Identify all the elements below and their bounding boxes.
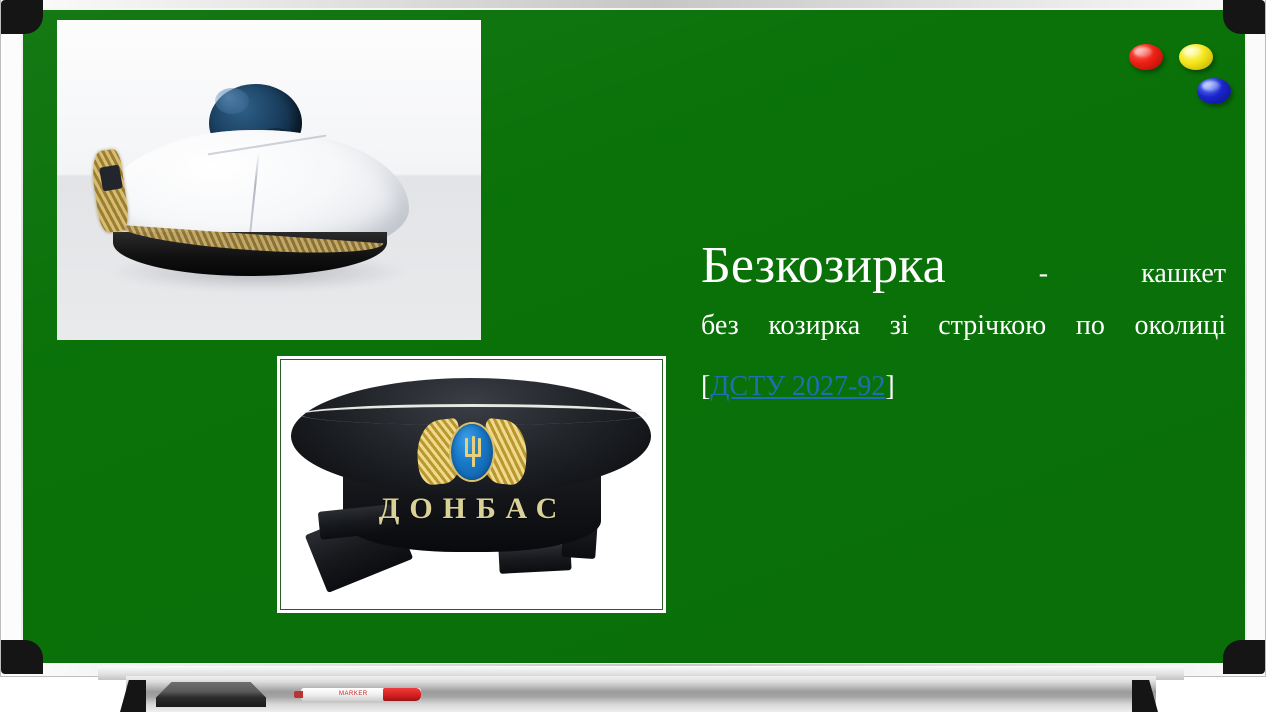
pen-tray: MARKER	[126, 676, 1156, 712]
image-donbas-sailor-cap: ДОНБАС	[277, 356, 666, 613]
marker-tip	[294, 691, 303, 698]
magnet-red[interactable]	[1129, 44, 1163, 70]
image-white-sailor-beret	[57, 20, 481, 340]
board-eraser[interactable]	[156, 682, 266, 707]
trident-icon	[465, 436, 481, 468]
pen-tray-bracket-left	[120, 680, 146, 712]
page-title: Безкозирка	[701, 237, 946, 294]
definition-paragraph: Безкозирка - кашкет без козирка зі стріч…	[701, 238, 1226, 402]
definition-line-2: без козирка зі стрічкою по околиці	[701, 311, 1226, 371]
whiteboard-frame: ДОНБАС	[1, 0, 1265, 676]
definition-line-3: [ДСТУ 2027-92]	[701, 372, 1226, 402]
cap-band-text: ДОНБАС	[347, 492, 599, 526]
definition-line-1: Безкозирка - кашкет	[701, 238, 1226, 311]
definition-word: кашкет	[1141, 258, 1226, 289]
pen-tray-body	[126, 676, 1156, 712]
cap-emblem-badge	[99, 164, 123, 191]
frame-corner-bottom-right	[1223, 640, 1265, 674]
cap-cockade	[417, 416, 527, 486]
slide-canvas: ДОНБАС	[0, 0, 1280, 720]
cockade-blue-oval	[451, 424, 493, 480]
magnet-yellow[interactable]	[1179, 44, 1213, 70]
magnet-highlight	[1184, 47, 1202, 57]
marker-label: MARKER	[339, 691, 368, 697]
bracket-close: ]	[885, 371, 894, 402]
marker-cap	[383, 688, 421, 701]
frame-corner-top-left	[1, 0, 43, 34]
bracket-open: [	[701, 371, 710, 402]
chalkboard-surface: ДОНБАС	[23, 10, 1245, 663]
title-dash: -	[1039, 258, 1048, 289]
standard-link[interactable]: ДСТУ 2027-92	[710, 371, 885, 402]
magnet-blue[interactable]	[1197, 78, 1231, 104]
magnet-highlight	[1202, 81, 1220, 91]
marker-pen[interactable]: MARKER	[301, 688, 421, 701]
magnet-highlight	[1134, 47, 1152, 57]
frame-corner-bottom-left	[1, 640, 43, 674]
slide-text-block: Безкозирка - кашкет без козирка зі стріч…	[701, 238, 1226, 402]
frame-corner-top-right	[1223, 0, 1265, 34]
